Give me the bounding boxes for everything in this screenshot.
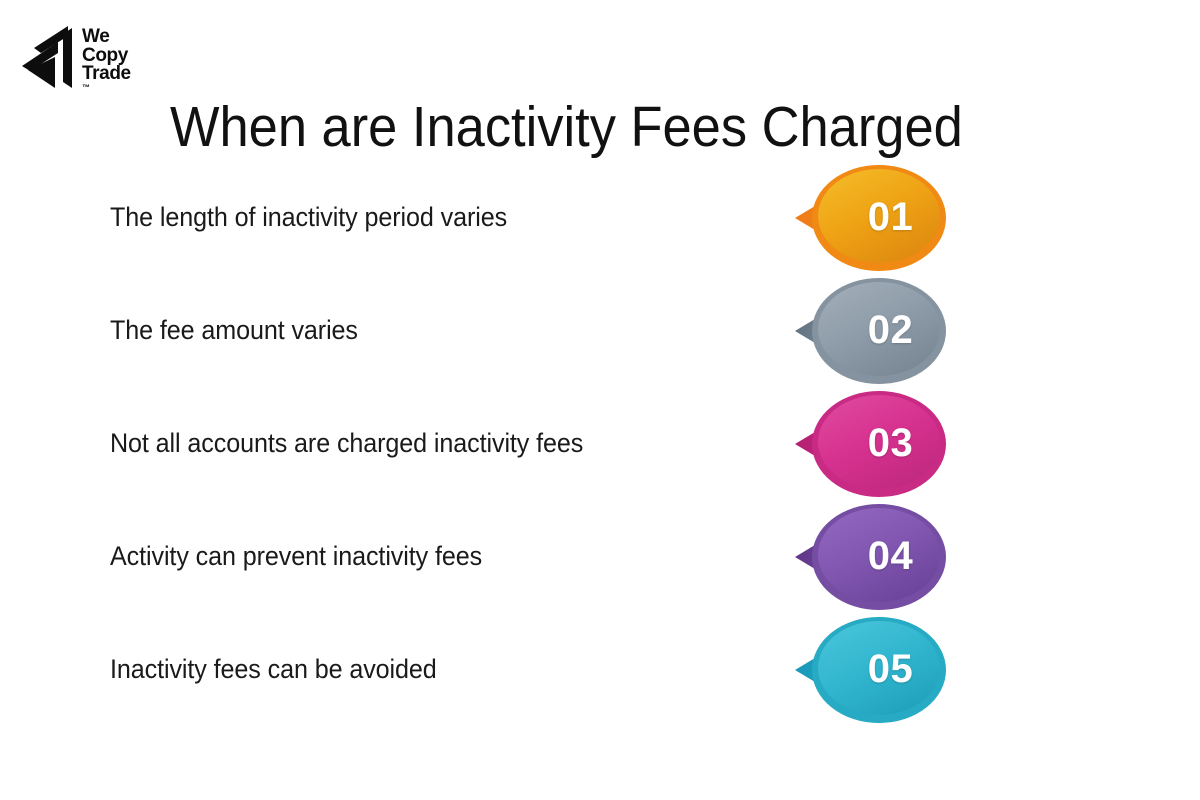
step-label: The fee amount varies [110,315,705,346]
step-badge-teardrop[interactable]: 01 [793,164,948,272]
step-label: Not all accounts are charged inactivity … [110,428,705,459]
badge-body [818,282,940,376]
brand-line-3: Trade [82,65,131,84]
arrow-chevron-logo-icon [14,26,76,92]
step-badge-teardrop[interactable]: 04 [793,503,948,611]
brand-line-1: We [82,28,131,47]
trademark-symbol: ™ [82,84,131,92]
brand-logo: We Copy Trade™ [14,26,184,98]
step-badge-teardrop[interactable]: 02 [793,277,948,385]
badge-body [818,508,940,602]
step-row: Inactivity fees can be avoided05 [0,613,1200,726]
step-row: Activity can prevent inactivity fees04 [0,500,1200,613]
step-row: The fee amount varies02 [0,274,1200,387]
step-row: Not all accounts are charged inactivity … [0,387,1200,500]
badge-body [818,169,940,263]
steps-list: The length of inactivity period varies01… [0,161,1200,726]
badge-body [818,621,940,715]
badge-body [818,395,940,489]
step-row: The length of inactivity period varies01 [0,161,1200,274]
step-badge-teardrop[interactable]: 03 [793,390,948,498]
brand-line-3-wrap: Trade™ [82,65,131,91]
step-badge-teardrop[interactable]: 05 [793,616,948,724]
step-label: Inactivity fees can be avoided [110,654,705,685]
page-title: When are Inactivity Fees Charged [170,98,998,158]
brand-wordmark: We Copy Trade™ [82,28,131,92]
step-label: Activity can prevent inactivity fees [110,541,705,572]
step-label: The length of inactivity period varies [110,202,705,233]
